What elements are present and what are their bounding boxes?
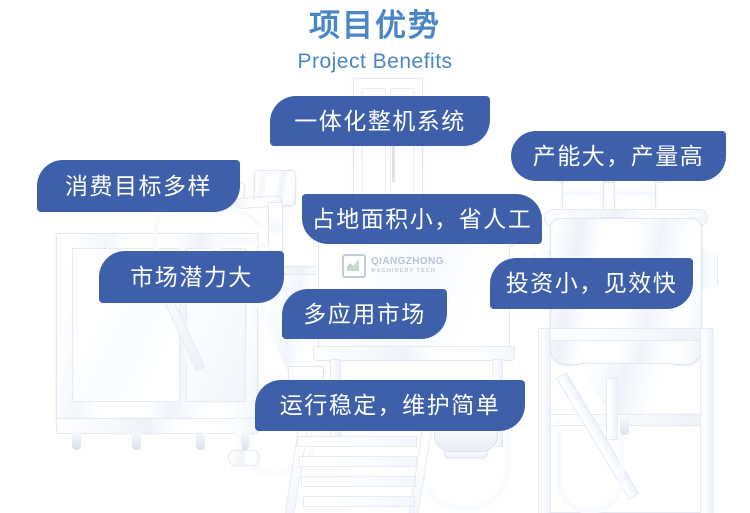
benefit-badge-6-label: 投资小，见效快 <box>506 272 678 295</box>
benefit-badge-6[interactable]: 投资小，见效快 <box>490 258 693 309</box>
benefit-badge-2[interactable]: 产能大，产量高 <box>511 131 726 181</box>
benefit-badge-4[interactable]: 占地面积小，省人工 <box>302 194 542 244</box>
project-benefits-banner: 项目优势 Project Benefits <box>0 0 750 513</box>
right-tank-cone <box>578 363 674 419</box>
cone-foot <box>620 417 629 435</box>
benefit-badge-3-label: 消费目标多样 <box>65 175 212 198</box>
logo-mark-icon <box>342 254 366 278</box>
platform-bottom-rail <box>313 346 515 361</box>
benefit-badge-3[interactable]: 消费目标多样 <box>37 160 240 212</box>
page-title-cn: 项目优势 <box>0 6 750 46</box>
benefit-badge-7[interactable]: 多应用市场 <box>282 289 447 339</box>
cabinet-foot <box>72 432 81 450</box>
logo-brand-subtitle: MACHINERY TECH <box>371 269 444 275</box>
stair-step <box>297 436 417 447</box>
benefit-badge-8[interactable]: 运行稳定，维护简单 <box>255 380 525 431</box>
cabinet-foot <box>196 432 205 450</box>
benefit-badge-2-label: 产能大，产量高 <box>533 145 705 168</box>
brand-logo: QIANGZHONG MACHINERY TECH <box>342 254 444 278</box>
benefit-badge-5[interactable]: 市场潜力大 <box>99 251 284 303</box>
benefit-badge-8-label: 运行稳定，维护简单 <box>280 394 501 417</box>
stair-step <box>299 456 417 467</box>
benefit-badge-4-label: 占地面积小，省人工 <box>312 208 533 231</box>
benefit-badge-5-label: 市场潜力大 <box>130 266 253 289</box>
left-discharge-valve <box>228 450 260 466</box>
left-cabinet-base <box>56 418 258 434</box>
logo-text: QIANGZHONG MACHINERY TECH <box>371 257 444 275</box>
stair-step <box>301 476 416 487</box>
stair-step <box>303 496 415 507</box>
benefit-badge-1[interactable]: 一体化整机系统 <box>270 96 490 146</box>
page-heading: 项目优势 Project Benefits <box>0 6 750 76</box>
right-frame-post-left <box>538 328 551 513</box>
right-frame-top <box>538 328 713 341</box>
logo-brand-name: QIANGZHONG <box>371 257 444 267</box>
benefit-badge-7-label: 多应用市场 <box>303 303 426 326</box>
benefit-badge-1-label: 一体化整机系统 <box>294 110 466 133</box>
cabinet-foot <box>132 432 141 450</box>
page-title-en: Project Benefits <box>0 48 750 76</box>
right-riser-pipe <box>606 378 618 440</box>
right-frame-post-right <box>700 328 713 513</box>
